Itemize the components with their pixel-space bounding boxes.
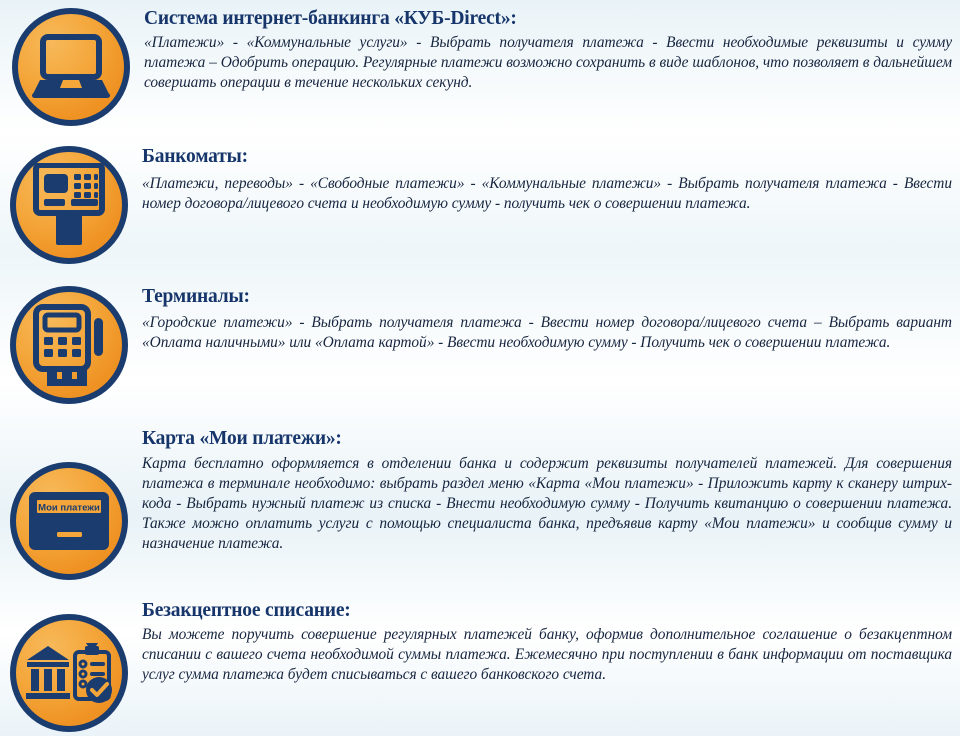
payment-methods-infographic: Система интернет-банкинга «КУБ-Direct»: … <box>0 0 960 736</box>
card-label-text: Мои платежи <box>38 503 100 514</box>
info-block-atm: Банкоматы: «Платежи, переводы» - «Свобод… <box>10 146 952 264</box>
info-block-text: Банкоматы: «Платежи, переводы» - «Свобод… <box>128 146 952 214</box>
info-block-text: Безакцептное списание: Вы можете поручит… <box>128 600 952 685</box>
bank-checklist-icon <box>10 614 128 732</box>
block-body: Вы можете поручить совершение регулярных… <box>142 625 952 685</box>
atm-icon <box>10 146 128 264</box>
block-heading: Система интернет-банкинга «КУБ-Direct»: <box>144 8 952 30</box>
info-block-internet-banking: Система интернет-банкинга «КУБ-Direct»: … <box>12 8 952 126</box>
block-heading: Безакцептное списание: <box>142 600 952 622</box>
block-body: «Платежи, переводы» - «Свободные платежи… <box>142 174 952 214</box>
block-body: «Платежи» - «Коммунальные услуги» - Выбр… <box>144 33 952 93</box>
info-block-direct-debit: Безакцептное списание: Вы можете поручит… <box>10 600 952 732</box>
block-heading: Терминалы: <box>142 286 952 308</box>
payment-card-icon: Мои платежи <box>10 462 128 580</box>
block-heading: Карта «Мои платежи»: <box>142 428 952 450</box>
block-body: Карта бесплатно оформляется в отделении … <box>142 454 952 554</box>
info-block-my-payments-card: Мои платежи Карта «Мои платежи»: Карта б… <box>10 428 952 580</box>
info-block-terminals: Терминалы: «Городские платежи» - Выбрать… <box>10 286 952 404</box>
payment-terminal-icon <box>10 286 128 404</box>
block-heading: Банкоматы: <box>142 146 952 168</box>
block-body: «Городские платежи» - Выбрать получателя… <box>142 313 952 353</box>
laptop-icon <box>12 8 130 126</box>
info-block-text: Терминалы: «Городские платежи» - Выбрать… <box>128 286 952 353</box>
info-block-text: Карта «Мои платежи»: Карта бесплатно офо… <box>128 428 952 554</box>
info-block-text: Система интернет-банкинга «КУБ-Direct»: … <box>130 8 952 93</box>
